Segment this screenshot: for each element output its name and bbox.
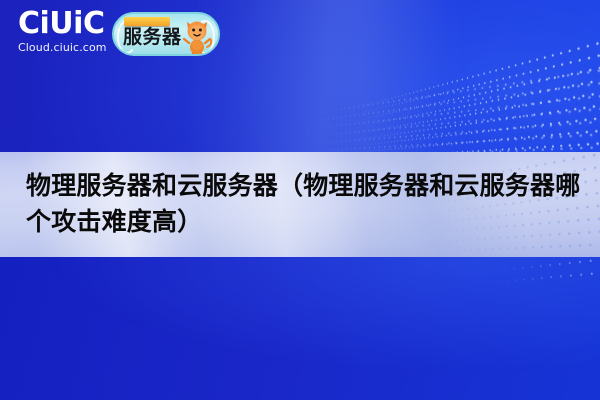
- logo-domain-text: Cloud.ciuic.com: [18, 41, 122, 55]
- server-badge: 服务器: [112, 12, 220, 56]
- banner-image: CiUiC Cloud.ciuic.com 服务器 物: [0, 0, 600, 400]
- orange-cat-mascot-icon: [180, 17, 214, 55]
- title-band: 物理服务器和云服务器（物理服务器和云服务器哪个攻击难度高）: [0, 152, 600, 257]
- brand-logo[interactable]: CiUiC Cloud.ciuic.com: [18, 8, 122, 55]
- article-title: 物理服务器和云服务器（物理服务器和云服务器哪个攻击难度高）: [26, 168, 582, 240]
- badge-label: 服务器: [123, 25, 182, 49]
- logo-wordmark: CiUiC: [18, 8, 122, 39]
- lower-background: [0, 257, 600, 400]
